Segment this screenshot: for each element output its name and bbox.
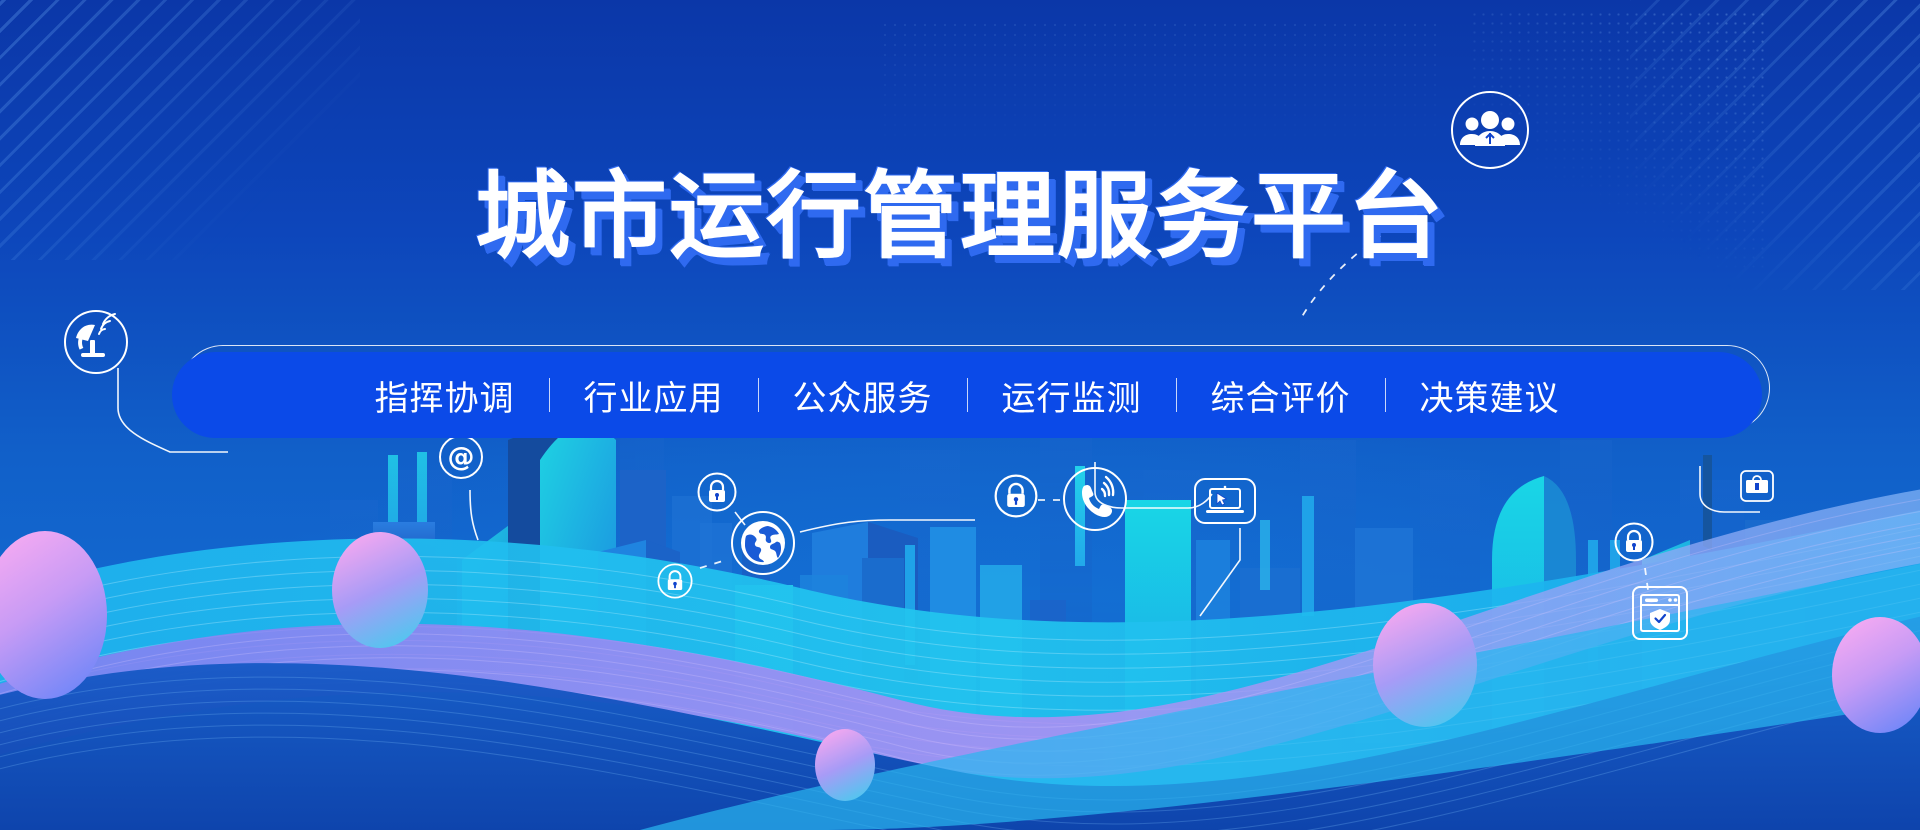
- sphere-center: [815, 729, 875, 801]
- sphere-upper-left: [332, 532, 428, 648]
- nav-item-juece-jianyi[interactable]: 决策建议: [1386, 371, 1594, 420]
- browser-shield-icon[interactable]: [1632, 586, 1688, 640]
- nav-item-zhihui-xietiao[interactable]: 指挥协调: [341, 371, 549, 420]
- sphere-right: [1373, 603, 1477, 727]
- main-navigation[interactable]: 指挥协调 行业应用 公众服务 运行监测 综合评价 决策建议: [172, 352, 1762, 438]
- lock-icon[interactable]: [1614, 522, 1654, 562]
- page-title-wrap: 城市运行管理服务平台: [0, 168, 1920, 267]
- satellite-dish-icon[interactable]: [62, 308, 130, 376]
- page-title: 城市运行管理服务平台: [475, 168, 1445, 267]
- nav-item-yunxing-jiance[interactable]: 运行监测: [968, 371, 1176, 420]
- at-sign-icon[interactable]: @: [438, 434, 484, 480]
- lock-icon[interactable]: [697, 472, 737, 512]
- lock-icon[interactable]: [994, 474, 1038, 518]
- lock-icon[interactable]: [657, 563, 693, 599]
- city-platform-banner: @: [0, 0, 1920, 830]
- nav-item-hangye-yingyong[interactable]: 行业应用: [550, 371, 758, 420]
- laptop-cursor-icon[interactable]: [1194, 478, 1256, 524]
- people-group-icon[interactable]: [1448, 88, 1532, 172]
- globe-icon[interactable]: [730, 510, 796, 576]
- svg-text:@: @: [448, 442, 475, 473]
- phone-signal-icon[interactable]: [1062, 466, 1128, 532]
- briefcase-icon[interactable]: [1740, 470, 1774, 502]
- nav-item-gongzhong-fuwu[interactable]: 公众服务: [759, 371, 967, 420]
- nav-item-zonghe-pingjia[interactable]: 综合评价: [1177, 371, 1385, 420]
